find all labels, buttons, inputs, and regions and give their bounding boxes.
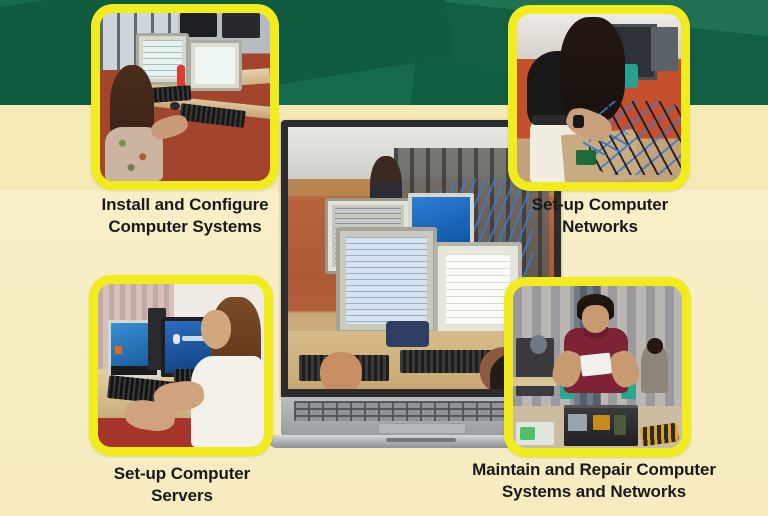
caption-setup-networks: Set-up Computer Networks — [492, 194, 708, 239]
scene4-open-pc-case — [564, 405, 638, 447]
scene-maintain-repair — [513, 286, 682, 448]
scene1-mouse — [170, 102, 180, 110]
photo-maintain-repair — [513, 286, 682, 448]
scene3-login-avatar — [173, 334, 180, 343]
photo-install-configure — [100, 13, 270, 181]
scene-install-configure — [100, 13, 270, 181]
scene4-side-table — [513, 377, 557, 387]
scene4-pc-part-1 — [568, 414, 587, 431]
scene-setup-networks — [517, 14, 681, 182]
caption-setup-servers: Set-up Computer Servers — [62, 463, 302, 508]
laptop-trackpad — [378, 423, 466, 434]
scene4-green-label — [520, 427, 535, 441]
photo-card-setup-servers[interactable] — [89, 275, 273, 456]
scene2-rack-frame-2 — [651, 27, 677, 71]
scene2-network-module — [576, 150, 596, 165]
scene1-student-arm — [149, 112, 191, 143]
scene4-held-component — [580, 352, 612, 376]
laptop-notch — [386, 438, 456, 442]
photo-setup-servers — [98, 284, 264, 447]
scene4-work-mat — [516, 422, 553, 445]
scene4-equipment-fan — [530, 335, 547, 354]
scene1-monitor-right — [188, 40, 242, 91]
caption-install-configure: Install and Configure Computer Systems — [60, 194, 310, 239]
scene3-student-face — [201, 310, 231, 349]
photo-card-setup-networks[interactable] — [508, 5, 690, 191]
photo-card-install-configure[interactable] — [91, 4, 279, 190]
lab-arm-left — [320, 352, 363, 389]
scene2-wrist-watch — [573, 115, 584, 128]
poster-canvas: Install and Configure Computer Systems S… — [0, 0, 768, 516]
photo-setup-networks — [517, 14, 681, 182]
scene4-pc-part-2 — [593, 415, 609, 431]
photo-card-maintain-repair[interactable] — [504, 277, 691, 457]
scene4-screwdriver-set — [640, 423, 680, 447]
scene3-desktop-tile — [115, 346, 122, 354]
scene4-pc-part-3 — [614, 415, 626, 435]
caption-maintain-repair: Maintain and Repair Computer Systems and… — [424, 459, 764, 504]
lab-bag — [386, 321, 429, 347]
lab-monitor-3 — [336, 227, 437, 335]
scene1-monitor-back-2 — [222, 13, 259, 38]
scene-setup-servers — [98, 284, 264, 447]
